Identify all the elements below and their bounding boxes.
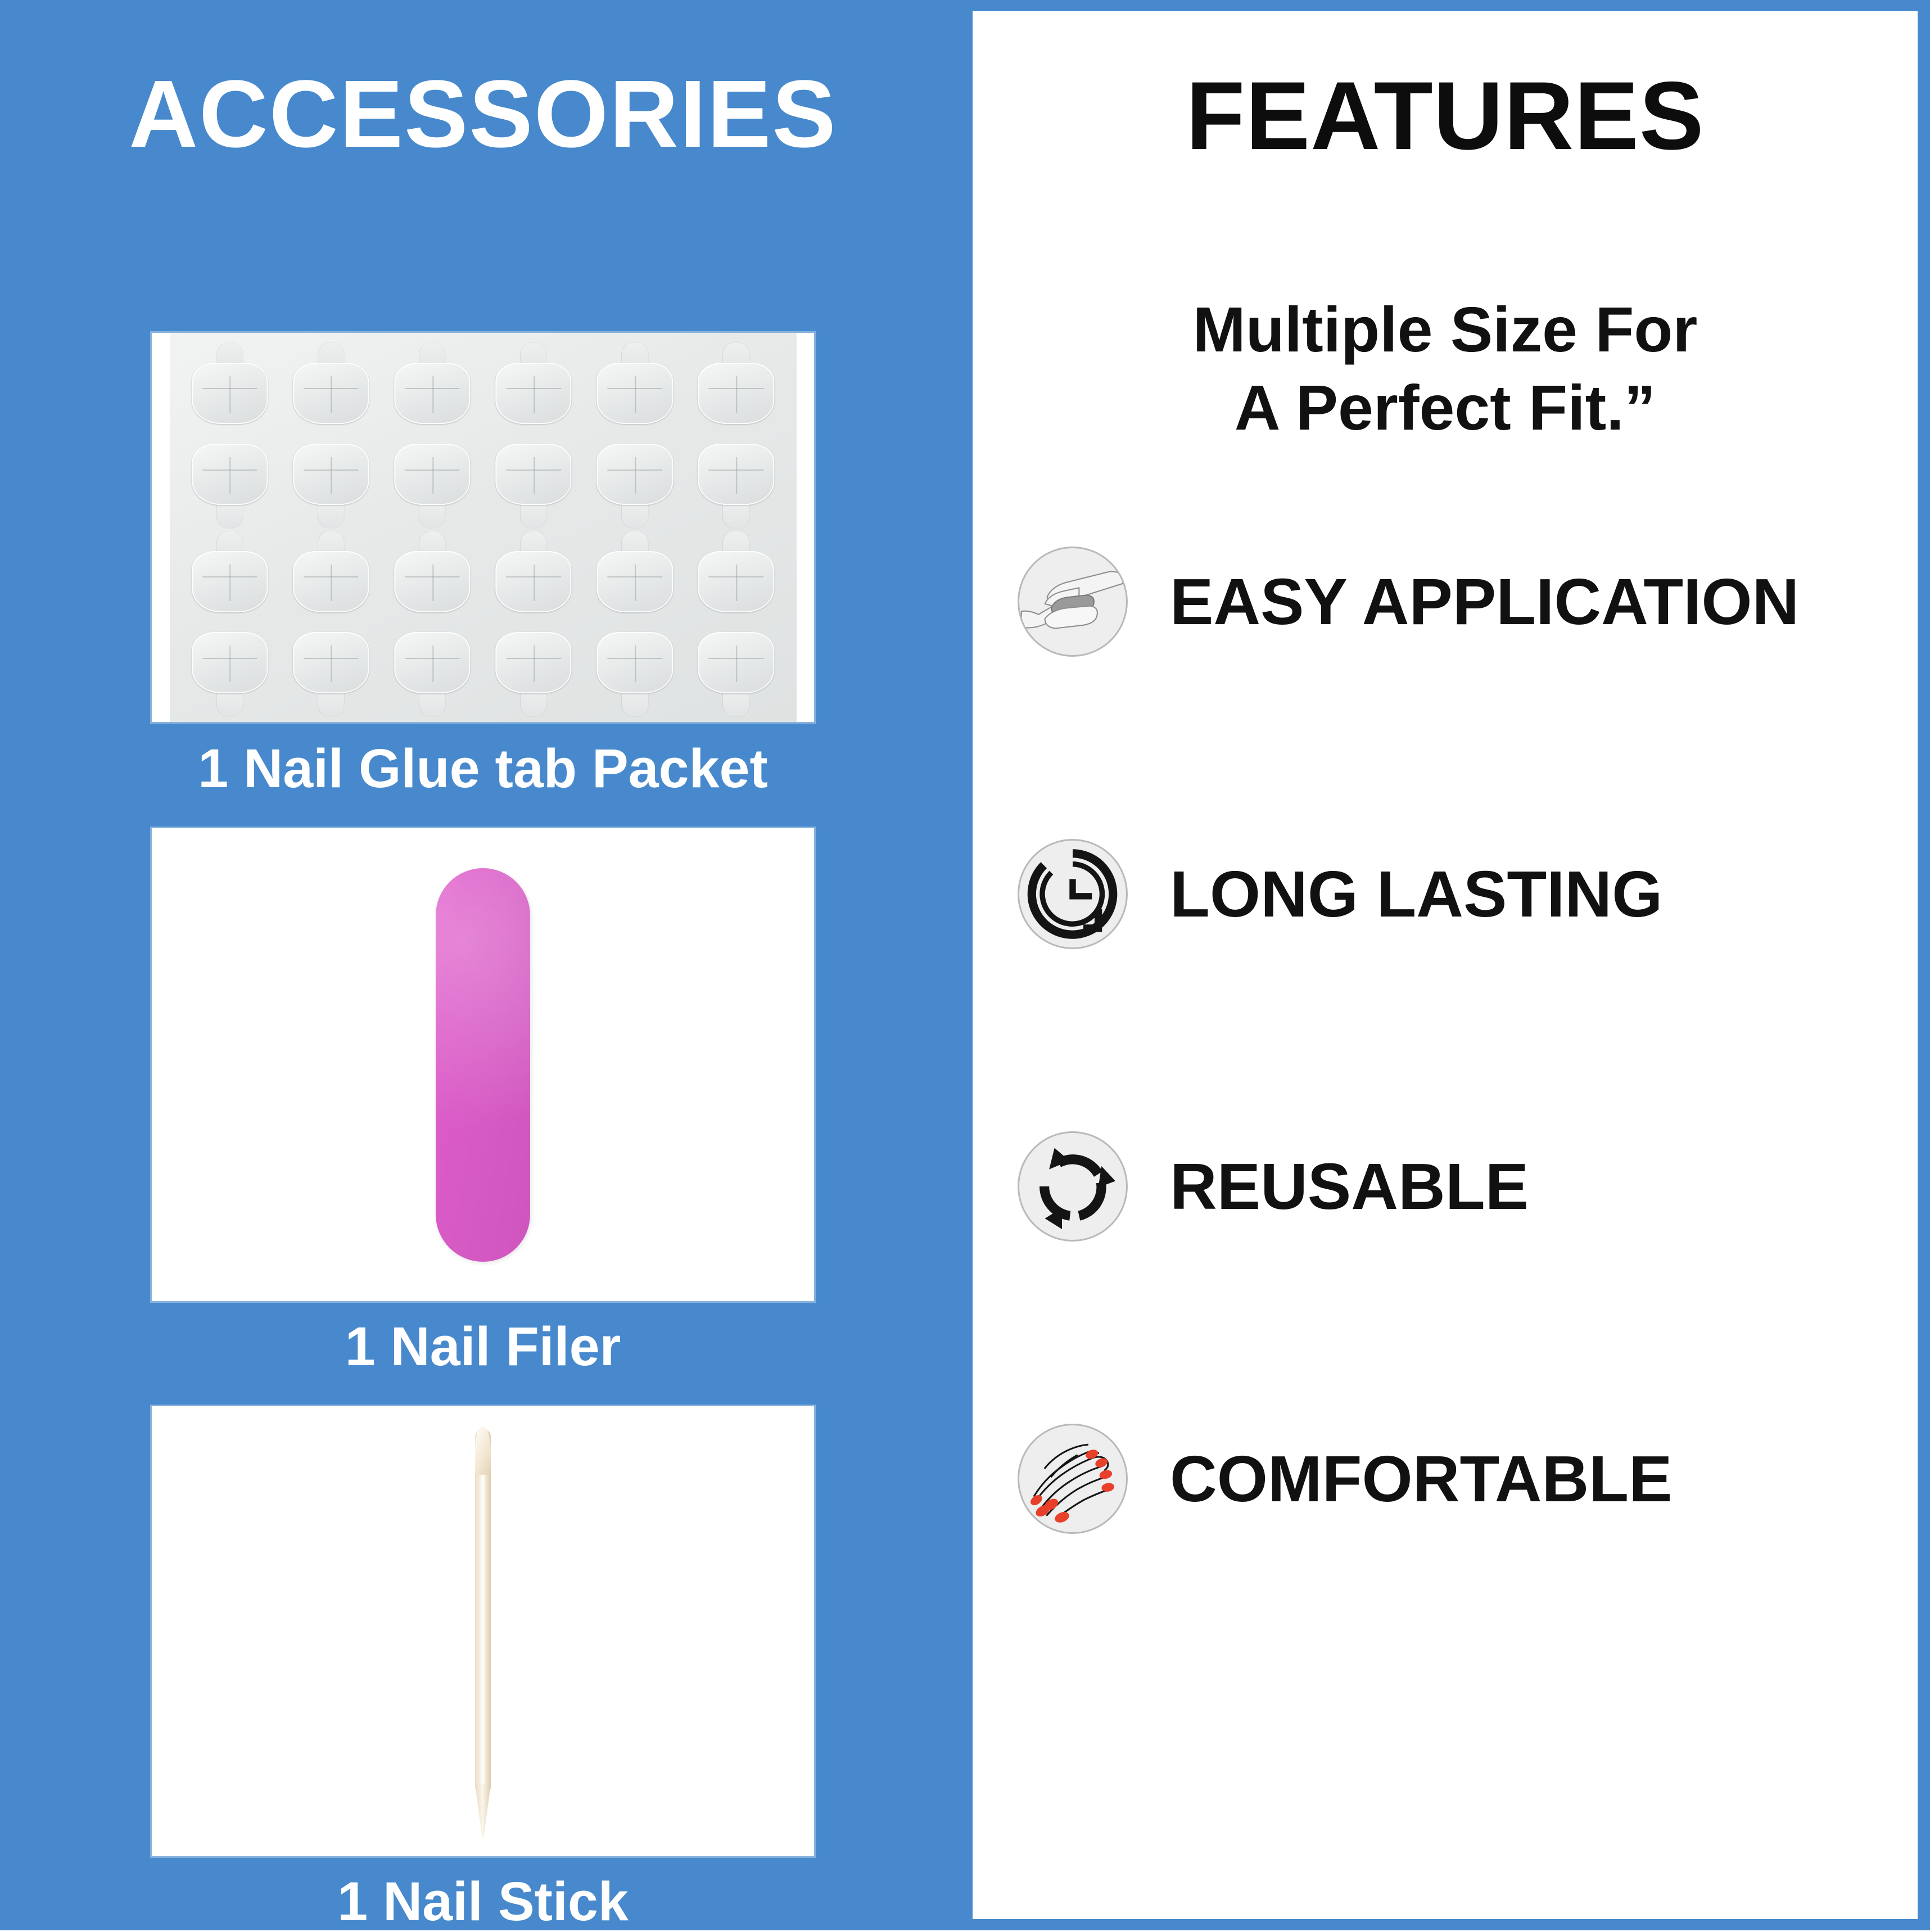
accessories-panel: ACCESSORIES <box>0 0 966 1930</box>
accessory-caption-nail-stick: 1 Nail Stick <box>152 1873 814 1930</box>
accessory-card-nail-stick <box>152 1406 814 1856</box>
product-infographic: ACCESSORIES <box>0 0 1930 1930</box>
features-tagline-line2: A Perfect Fit.” <box>973 369 1918 447</box>
feature-label-easy-application: EASY APPLICATION <box>1170 569 1799 634</box>
feature-row-long-lasting: LONG LASTING <box>973 824 1918 964</box>
feature-row-easy-application: EASY APPLICATION <box>973 531 1918 672</box>
clock-arrow-icon <box>1018 839 1128 949</box>
wooden-cuticle-stick-photo <box>466 1429 500 1834</box>
feature-label-reusable: REUSABLE <box>1170 1154 1529 1219</box>
feature-label-long-lasting: LONG LASTING <box>1170 861 1662 927</box>
nail-glue-tab-sheet-photo <box>170 333 797 722</box>
features-tagline-line1: Multiple Size For <box>973 291 1918 369</box>
feature-row-reusable: REUSABLE <box>973 1116 1918 1257</box>
accessory-card-glue-tab <box>152 333 814 722</box>
accessories-title: ACCESSORIES <box>129 66 837 162</box>
manicured-hand-icon <box>1018 1424 1128 1534</box>
features-title: FEATURES <box>973 67 1918 164</box>
accessory-caption-nail-filer: 1 Nail Filer <box>152 1318 814 1375</box>
accessory-card-nail-filer <box>152 828 814 1301</box>
features-tagline: Multiple Size For A Perfect Fit.” <box>973 291 1918 447</box>
feature-label-comfortable: COMFORTABLE <box>1170 1446 1673 1511</box>
accessory-caption-glue-tab: 1 Nail Glue tab Packet <box>152 740 814 797</box>
feature-list: EASY APPLICATION LONG LASTING <box>973 531 1918 1549</box>
features-panel: FEATURES Multiple Size For A Perfect Fit… <box>966 0 1930 1930</box>
finger-pressing-nail-icon <box>1018 547 1128 657</box>
pink-nail-file-photo <box>436 868 530 1262</box>
recycle-arrows-icon <box>1018 1131 1128 1242</box>
feature-row-comfortable: COMFORTABLE <box>973 1409 1918 1549</box>
